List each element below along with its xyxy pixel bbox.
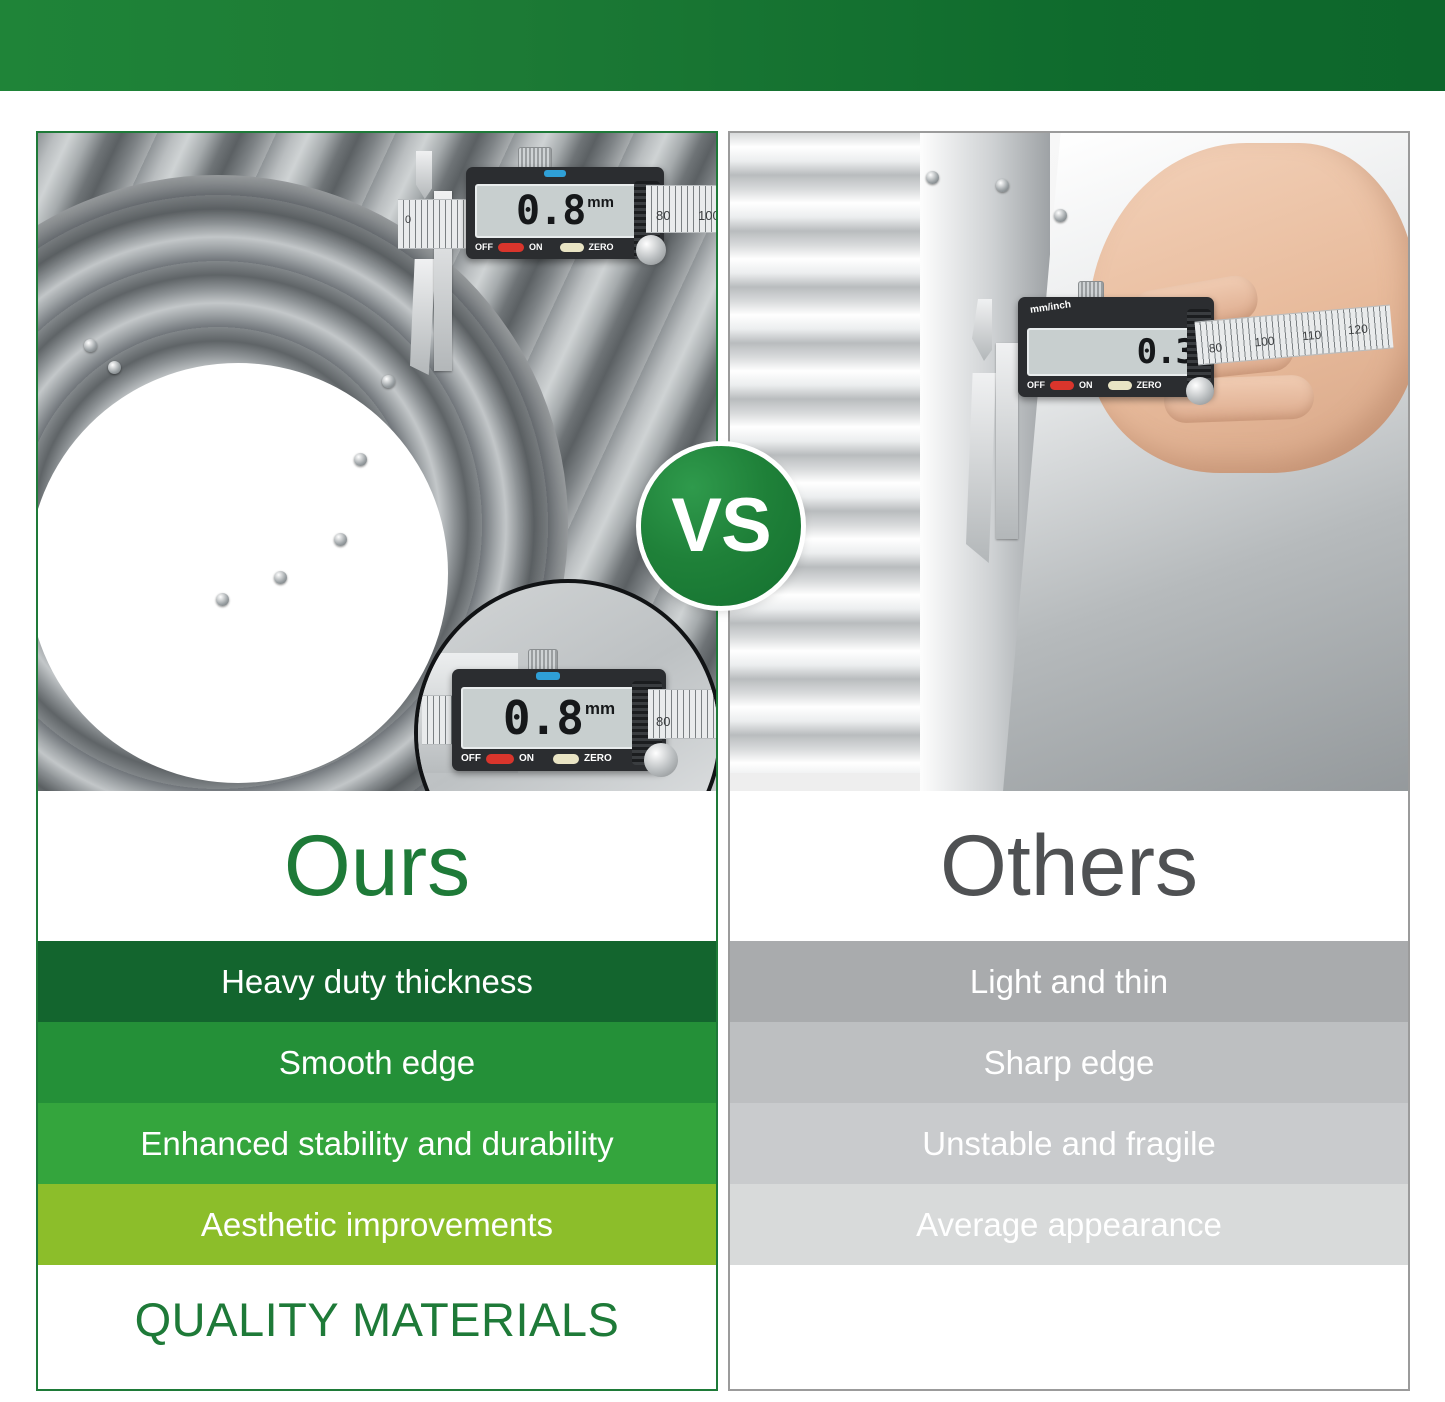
magnified-reading: 0.8 [503, 691, 583, 745]
vs-badge: VS [641, 446, 801, 606]
caliper-button-row: OFF ON ZERO [475, 242, 655, 252]
others-feature-label: Sharp edge [984, 1044, 1155, 1082]
bolt-icon [1054, 209, 1067, 222]
ours-feature-rows: Heavy duty thickness Smooth edge Enhance… [38, 941, 716, 1265]
caliper-slider-arm [996, 343, 1018, 539]
ours-feature-row: Aesthetic improvements [38, 1184, 716, 1265]
magnified-power-switch[interactable] [486, 754, 514, 764]
bolt-icon [996, 179, 1009, 192]
bolt-icon [84, 339, 97, 352]
caliper-display: 0.3 [1027, 328, 1205, 376]
magnified-display: 0.8 mm [461, 687, 657, 749]
caliper-mode-button[interactable] [544, 170, 566, 177]
caliper-power-switch[interactable] [498, 243, 524, 252]
magnified-caliper-body: 0.8 mm OFF ON ZERO [452, 669, 666, 771]
caliper-scale-right: 80 100 110 [646, 185, 716, 233]
caliper-upper-jaw [416, 151, 432, 199]
bolt-icon [354, 453, 367, 466]
magnified-thumb-wheel[interactable] [644, 743, 678, 777]
ours-product-photo: 0 0.8 mm OFF ON [38, 133, 716, 791]
quality-materials-label: QUALITY MATERIALS [135, 1292, 620, 1347]
ours-feature-row: Smooth edge [38, 1022, 716, 1103]
caliper-thumb-wheel[interactable] [636, 235, 666, 265]
caliper-on-label: ON [1079, 380, 1093, 390]
caliper-power-switch[interactable] [1050, 381, 1074, 390]
caliper-off-label: OFF [475, 242, 493, 252]
others-footer-row [730, 1265, 1408, 1374]
scale-tick-80: 80 [656, 208, 670, 223]
ours-column: 0 0.8 mm OFF ON [36, 131, 718, 1391]
ours-title-row: Ours [38, 791, 716, 941]
scale-tick-80: 80 [1208, 340, 1223, 355]
bolt-icon [334, 533, 347, 546]
others-feature-row: Average appearance [730, 1184, 1408, 1265]
bolt-icon [274, 571, 287, 584]
others-feature-label: Light and thin [970, 963, 1168, 1001]
caliper-display: 0.8 mm [475, 184, 655, 238]
thin-corrugated-sheet [730, 133, 940, 773]
ours-feature-label: Aesthetic improvements [201, 1206, 553, 1244]
magnified-scale-right: 80 [648, 689, 716, 739]
scale-tick-100: 100 [1254, 334, 1275, 350]
caliper-zero-tick: 0 [405, 214, 411, 226]
scale-tick-120: 120 [1347, 322, 1368, 338]
caliper-zero-label: ZERO [589, 242, 614, 252]
ours-title: Ours [284, 823, 470, 909]
others-column: mm/inch 0.3 OFF ON ZERO [728, 131, 1410, 1391]
scale-tick-100: 100 [698, 208, 716, 223]
magnified-scale-tick: 80 [656, 714, 670, 729]
caliper-body: 0.8 mm OFF ON ZERO [466, 167, 664, 259]
caliper-scale-left: 0 [398, 199, 470, 249]
caliper-body: mm/inch 0.3 OFF ON ZERO [1018, 297, 1214, 397]
ring-interior [38, 363, 448, 783]
caliper-lock-knob[interactable] [518, 147, 552, 169]
others-title: Others [940, 823, 1198, 909]
bolt-icon [382, 375, 395, 388]
caliper-on-label: ON [529, 242, 543, 252]
top-green-banner [0, 0, 1445, 91]
ours-footer-row: QUALITY MATERIALS [38, 1265, 716, 1374]
magnified-mode-button[interactable] [536, 672, 560, 680]
bolt-icon [216, 593, 229, 606]
others-feature-label: Average appearance [916, 1206, 1222, 1244]
magnified-unit: mm [585, 699, 615, 719]
bolt-icon [926, 171, 939, 184]
caliper-zero-button[interactable] [1108, 381, 1132, 390]
caliper-unit: mm [587, 194, 614, 211]
magnified-zero-button[interactable] [553, 754, 579, 764]
others-feature-rows: Light and thin Sharp edge Unstable and f… [730, 941, 1408, 1265]
others-title-row: Others [730, 791, 1408, 941]
magnified-zero-label: ZERO [584, 753, 612, 764]
caliper-zero-label: ZERO [1137, 380, 1162, 390]
magnified-button-row: OFF ON ZERO [461, 753, 657, 764]
ours-feature-label: Smooth edge [279, 1044, 475, 1082]
ours-feature-row: Heavy duty thickness [38, 941, 716, 1022]
caliper-mode-label: mm/inch [1029, 299, 1071, 316]
bolt-icon [108, 361, 121, 374]
ours-feature-row: Enhanced stability and durability [38, 1103, 716, 1184]
magnified-on-label: ON [519, 753, 534, 764]
caliper-zero-button[interactable] [560, 243, 584, 252]
caliper-thumb-wheel[interactable] [1186, 377, 1214, 405]
others-feature-row: Unstable and fragile [730, 1103, 1408, 1184]
ours-feature-label: Enhanced stability and durability [140, 1125, 613, 1163]
others-feature-row: Light and thin [730, 941, 1408, 1022]
magnified-off-label: OFF [461, 753, 481, 764]
scale-tick-110: 110 [1302, 328, 1322, 344]
ours-feature-label: Heavy duty thickness [221, 963, 533, 1001]
vs-label: VS [671, 488, 770, 564]
others-feature-label: Unstable and fragile [922, 1125, 1216, 1163]
caliper-reading: 0.8 [516, 188, 585, 234]
others-product-photo: mm/inch 0.3 OFF ON ZERO [730, 133, 1408, 791]
caliper-off-label: OFF [1027, 380, 1045, 390]
comparison-columns: 0 0.8 mm OFF ON [0, 91, 1445, 1402]
others-feature-row: Sharp edge [730, 1022, 1408, 1103]
caliper-button-row: OFF ON ZERO [1027, 380, 1205, 390]
